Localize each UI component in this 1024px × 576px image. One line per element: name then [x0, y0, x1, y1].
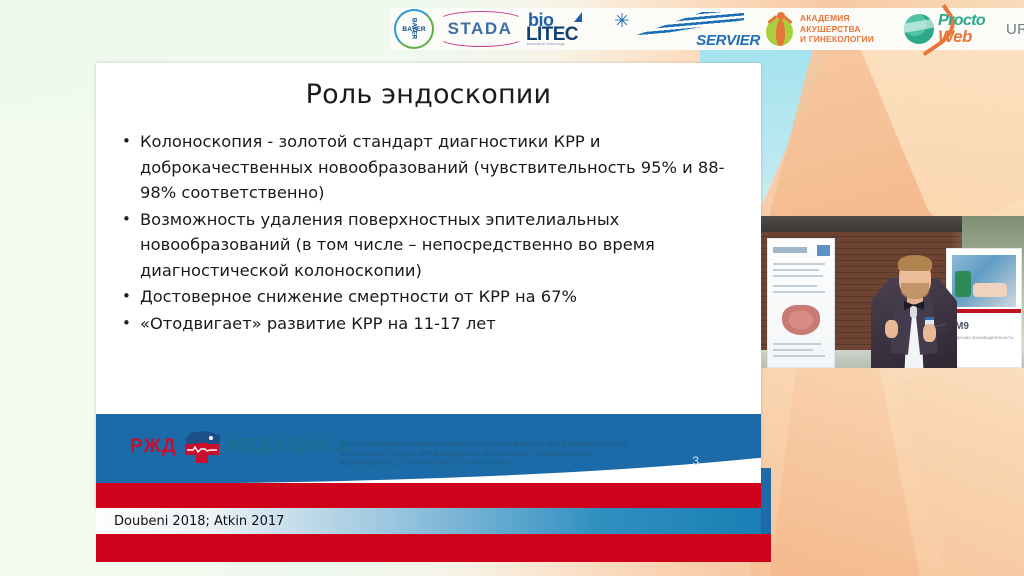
servier-label: SERVIER	[696, 32, 760, 49]
medicina-label: МЕДИЦИНА	[227, 436, 350, 458]
presentation-screenshot: BAYER BAYER STADA bio LITEC biomedical t…	[0, 0, 1024, 576]
bullet-marker-icon: •	[122, 207, 140, 284]
sponsor-logo-strip: BAYER BAYER STADA bio LITEC biomedical t…	[390, 8, 1024, 50]
bullet-text: «Отодвигает» развитие КРР на 11-17 лет	[140, 311, 747, 337]
sponsor-logo-proctoweb: Procto Web	[904, 8, 1006, 50]
biolitec-poster-logo-icon	[817, 245, 830, 256]
poster-model-sub: Лучшая производительность	[955, 335, 1015, 341]
list-item: • Возможность удаления поверхностных эпи…	[122, 207, 747, 284]
page-number: 3	[692, 454, 699, 468]
stada-arc-bottom-icon	[438, 27, 524, 47]
rzd-bird-cross-icon	[182, 431, 222, 463]
list-item: • Колоноскопия - золотой стандарт диагно…	[122, 129, 747, 206]
bullet-marker-icon: •	[122, 311, 140, 337]
academy-figure-icon	[764, 10, 796, 48]
video-poster-left	[767, 238, 835, 368]
list-item: • «Отодвигает» развитие КРР на 11-17 лет	[122, 311, 747, 337]
sponsor-logo-servier: ✳ SERVIER	[612, 8, 764, 50]
bayer-cross-icon: BAYER BAYER	[394, 9, 434, 49]
biolitec-tagline: biomedical technology	[527, 43, 565, 46]
speaker-figure	[865, 236, 961, 368]
bullet-marker-icon: •	[122, 284, 140, 310]
slide-canvas: Роль эндоскопии • Колоноскопия - золотой…	[96, 63, 761, 510]
biolitec-triangle-icon	[574, 12, 582, 22]
bullet-marker-icon: •	[122, 129, 140, 206]
rzd-medicina-logo: РЖД МЕДИЦИНА	[130, 430, 350, 464]
citation-text: Doubeni 2018; Atkin 2017	[114, 514, 284, 529]
urotv-prefix-label: URO	[1006, 21, 1024, 38]
sponsor-logo-academy: АКАДЕМИЯ АКУШЕРСТВА И ГИНЕКОЛОГИИ	[764, 8, 904, 50]
footer-red-band	[96, 483, 761, 510]
sponsor-logo-urotv: URO TV	[1006, 8, 1024, 50]
bottom-red-bar-right	[761, 534, 771, 562]
citation-bar: Doubeni 2018; Atkin 2017	[96, 508, 761, 534]
sponsor-logo-biolitec: bio LITEC biomedical technology	[526, 8, 612, 50]
list-item: • Достоверное снижение смертности от КРР…	[122, 284, 747, 310]
bullet-text: Возможность удаления поверхностных эпите…	[140, 207, 747, 284]
bullet-text: Колоноскопия - золотой стандарт диагност…	[140, 129, 747, 206]
sponsor-logo-bayer: BAYER BAYER	[394, 8, 434, 50]
academy-line-1: АКАДЕМИЯ	[800, 13, 874, 24]
clinic-address-block: Частное учреждение здравоохранения «Клин…	[340, 440, 640, 469]
bayer-horizontal-label: BAYER	[402, 26, 425, 33]
bullet-text: Достоверное снижение смертности от КРР н…	[140, 284, 747, 310]
microphone-icon	[910, 306, 917, 318]
slide-title: Роль эндоскопии	[96, 79, 761, 110]
sponsor-logo-stada: STADA	[434, 8, 526, 50]
rzd-label: РЖД	[130, 436, 177, 458]
slide-footer: 3 РЖД МЕДИЦИНА Частное учреждение здраво…	[96, 414, 761, 510]
slide-bullet-list: • Колоноскопия - золотой стандарт диагно…	[122, 129, 747, 337]
proctoweb-web-label: Web	[938, 27, 972, 47]
speaker-video-thumbnail[interactable]: M9 Лучшая производительность	[761, 216, 1024, 368]
academy-line-2: АКУШЕРСТВА	[800, 24, 874, 35]
academy-line-3: И ГИНЕКОЛОГИИ	[800, 34, 874, 45]
blue-edge-sliver	[761, 468, 771, 534]
servier-star-icon: ✳	[614, 12, 630, 31]
anatomy-illustration-icon	[782, 305, 820, 335]
bottom-red-bar	[96, 534, 761, 562]
